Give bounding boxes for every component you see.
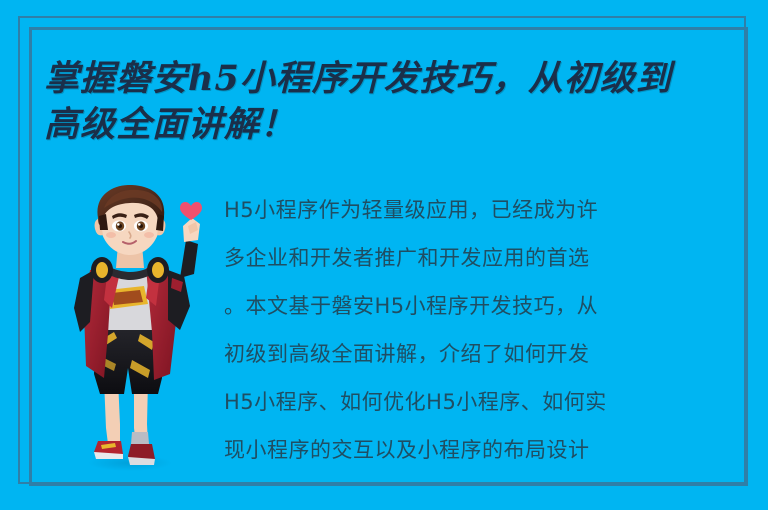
body-line-1: H5小程序作为轻量级应用，已经成为许 (224, 186, 740, 234)
body-line-2: 多企业和开发者推广和开发应用的首选 (224, 234, 740, 282)
eye-right-highlight (138, 223, 141, 226)
heart-icon (180, 202, 202, 220)
headphone-cup-right-inner (152, 262, 164, 278)
eye-left-highlight (117, 223, 120, 226)
sleeve-right (168, 270, 190, 330)
headphone-cup-left-inner (96, 262, 108, 278)
headline-line-2: 高级全面讲解！ (44, 102, 704, 148)
headline-line-1: 掌握磐安h5小程序开发技巧，从初级到 (44, 56, 704, 102)
article-summary: H5小程序作为轻量级应用，已经成为许 多企业和开发者推广和开发应用的首选 。本文… (224, 186, 740, 474)
body-line-3: 。本文基于磐安H5小程序开发技巧，从 (224, 282, 740, 330)
body-line-6: 现小程序的交互以及小程序的布局设计 (224, 426, 740, 474)
page-title: 掌握磐安h5小程序开发技巧，从初级到 高级全面讲解！ (44, 56, 704, 148)
blush-left (106, 232, 116, 238)
raised-forearm (180, 240, 198, 278)
blush-right (144, 232, 154, 238)
character-illustration (68, 182, 202, 472)
sock-right (131, 432, 149, 444)
body-line-4: 初级到高级全面讲解，介绍了如何开发 (224, 330, 740, 378)
body-line-5: H5小程序、如何优化H5小程序、如何实 (224, 378, 740, 426)
article-banner: 掌握磐安h5小程序开发技巧，从初级到 高级全面讲解！ H5小程序作为轻量级应用，… (0, 0, 768, 510)
